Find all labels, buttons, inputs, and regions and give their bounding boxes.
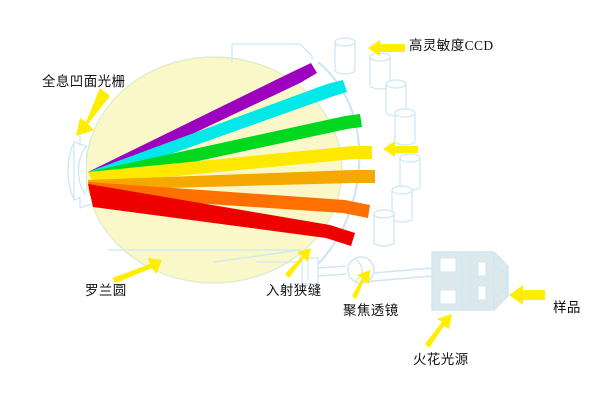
focusing-lens xyxy=(348,257,374,283)
ccd-detector[interactable] xyxy=(335,38,355,74)
incident-light-path xyxy=(318,266,432,282)
diagram-svg xyxy=(0,0,600,400)
label-spark-source: 火花光源 xyxy=(413,348,469,368)
ccd-detector[interactable] xyxy=(395,109,415,145)
ccd-detector[interactable] xyxy=(392,186,412,222)
label-high-sensitivity-ccd: 高灵敏度CCD xyxy=(409,34,494,54)
ccd-detector[interactable] xyxy=(400,154,420,190)
label-entrance-slit: 入射狭缝 xyxy=(266,279,322,299)
label-sample: 样品 xyxy=(553,296,581,316)
ccd-detector[interactable] xyxy=(374,210,394,246)
spark-source xyxy=(432,252,508,310)
arrow-to-spark-source xyxy=(425,314,452,348)
diagram-canvas: 全息凹面光栅 高灵敏度CCD 罗兰圆 入射狭缝 聚焦透镜 火花光源 样品 xyxy=(0,0,600,400)
label-rowland-circle: 罗兰圆 xyxy=(85,279,127,299)
arrow-to-sample xyxy=(509,285,545,305)
label-holographic-concave-grating: 全息凹面光栅 xyxy=(42,70,125,90)
label-focusing-lens: 聚焦透镜 xyxy=(343,299,399,319)
